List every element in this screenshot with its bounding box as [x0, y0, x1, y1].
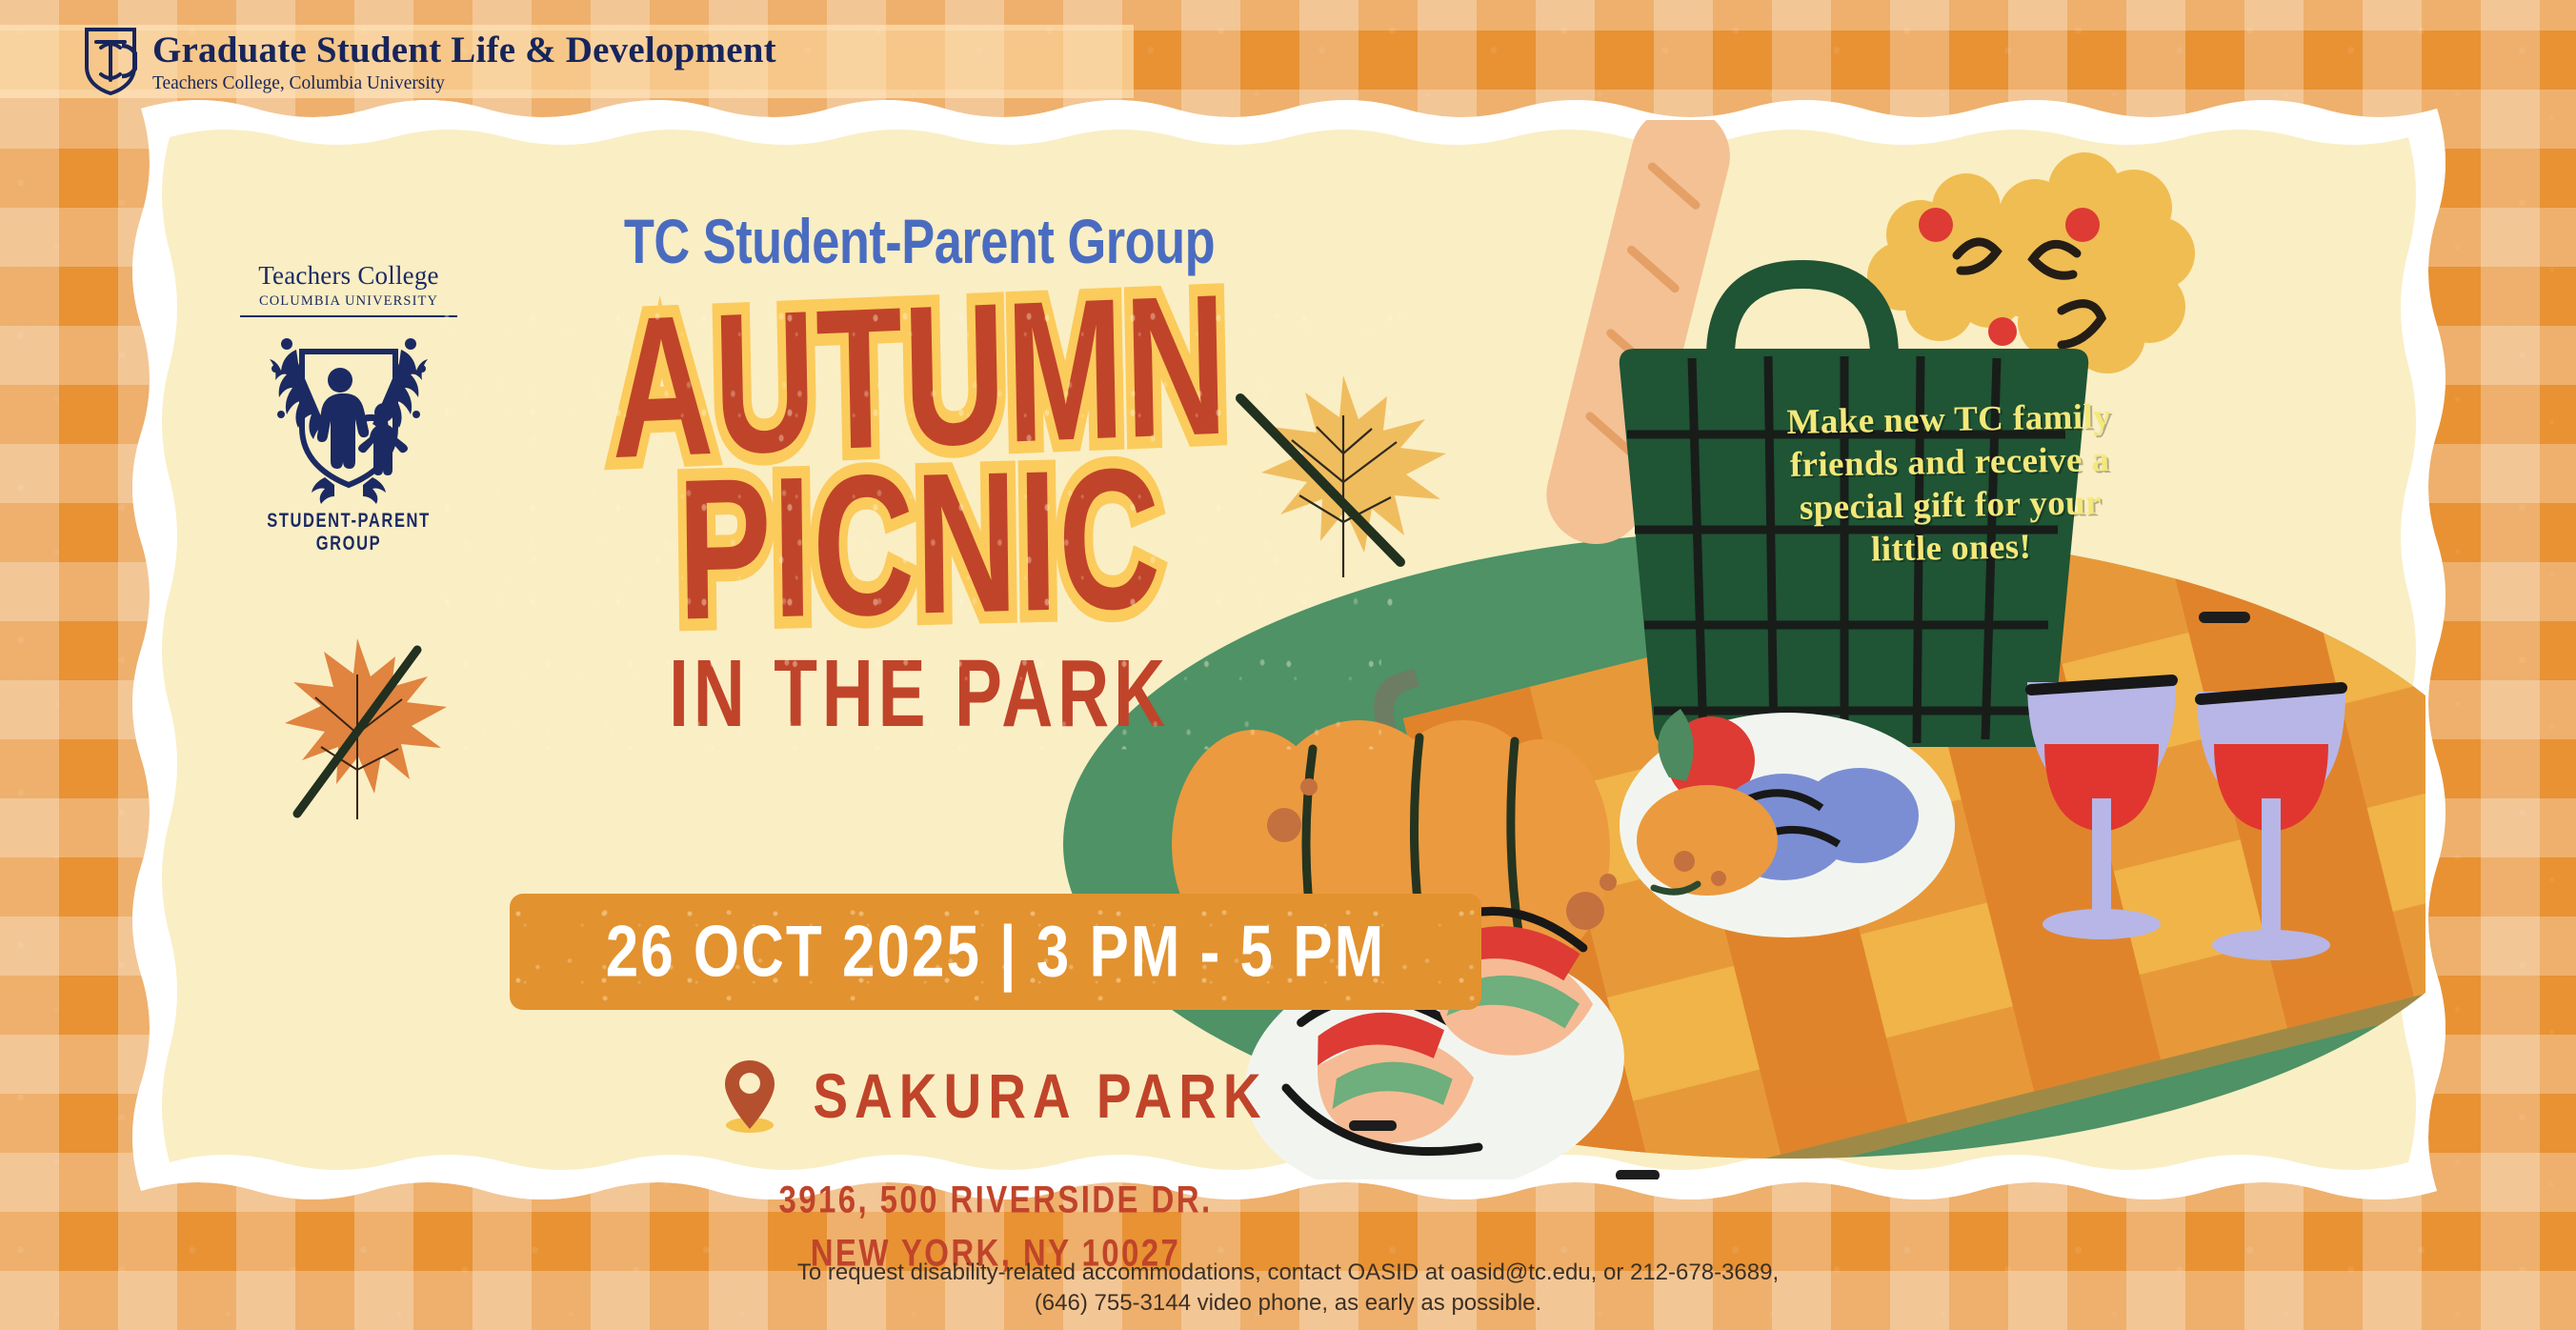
footer-line-1: To request disability-related accommodat… — [0, 1258, 2576, 1288]
footer-line-2: (646) 755-3144 video phone, as early as … — [0, 1288, 2576, 1319]
tc-crest-icon — [84, 27, 137, 95]
org-title: Graduate Student Life & Development — [152, 31, 776, 69]
pear-icon — [1637, 785, 1778, 896]
maple-leaf-orange-icon — [238, 625, 476, 844]
parent-child-shield-icon — [268, 325, 430, 504]
poster-card: Teachers College COLUMBIA UNIVERSITY — [124, 91, 2454, 1208]
sunflower-center-right — [2065, 208, 2100, 242]
map-pin-icon — [723, 1058, 776, 1133]
address-line-1: 3916, 500 RIVERSIDE DR. — [510, 1173, 1481, 1226]
card-inner: Teachers College COLUMBIA UNIVERSITY — [152, 120, 2425, 1179]
event-subtitle: IN THE PARK — [457, 638, 1381, 749]
sunflower-center-left — [1919, 208, 1953, 242]
sunflower-center-bottom — [1988, 317, 2017, 346]
basket-message: Make new TC family friends and receive a… — [1701, 393, 2199, 574]
spg-university: COLUMBIA UNIVERSITY — [236, 293, 461, 310]
venue-row: SAKURA PARK — [510, 1058, 1481, 1133]
spg-caption: STUDENT-PARENT GROUP — [236, 510, 461, 556]
date-time-text: 26 OCT 2025 | 3 PM - 5 PM — [606, 911, 1386, 994]
venue-name: SAKURA PARK — [813, 1059, 1267, 1133]
spg-divider — [240, 315, 457, 317]
spg-name: Teachers College — [236, 261, 461, 291]
basket-message-line-4: little ones! — [1703, 523, 2200, 574]
sunflower-icon — [1867, 152, 2195, 373]
header-branding: Graduate Student Life & Development Teac… — [84, 27, 776, 95]
accessibility-footer: To request disability-related accommodat… — [0, 1258, 2576, 1319]
student-parent-group-logo: Teachers College COLUMBIA UNIVERSITY — [236, 261, 461, 546]
org-subtitle: Teachers College, Columbia University — [152, 73, 757, 92]
left-content-column: Teachers College COLUMBIA UNIVERSITY — [152, 120, 1505, 1179]
maple-leaf-yellow-icon — [1200, 358, 1486, 606]
date-time-banner: 26 OCT 2025 | 3 PM - 5 PM — [510, 894, 1481, 1010]
